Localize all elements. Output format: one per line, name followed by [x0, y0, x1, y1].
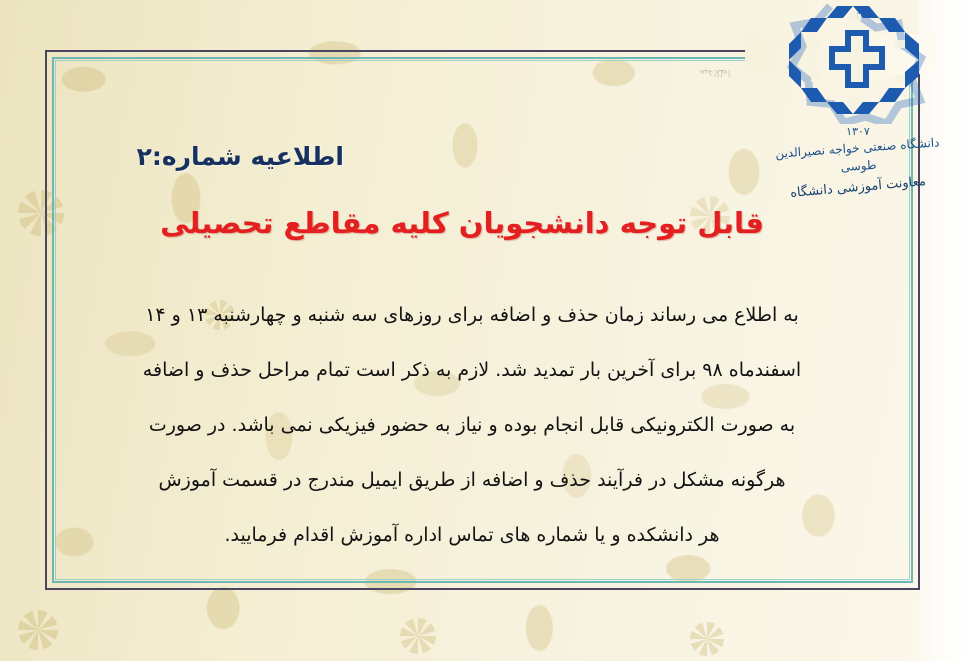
body-line: هر دانشکده و یا شماره های تماس اداره آمو…	[72, 508, 872, 563]
notice-headline: قابل توجه دانشجویان کلیه مقاطع تحصیلی	[0, 206, 964, 240]
body-line: به اطلاع می رساند زمان حذف و اضافه برای …	[72, 288, 872, 343]
knot-emblem-icon	[783, 2, 933, 124]
university-logo: ۱۳۰۷ دانشگاه صنعتی خواجه نصیرالدین طوسی …	[758, 2, 958, 192]
notice-number: اطلاعیه شماره:۲	[137, 142, 344, 171]
watermark-center	[300, 560, 660, 620]
rosette-motif	[400, 618, 436, 654]
body-line: به صورت الکترونیکی قابل انجام بوده و نیا…	[72, 398, 872, 453]
notice-body: به اطلاع می رساند زمان حذف و اضافه برای …	[72, 288, 872, 563]
body-line: هرگونه مشکل در فرآیند حذف و اضافه از طری…	[72, 453, 872, 508]
watermark-top: اطلاعیه	[660, 62, 770, 78]
rosette-motif	[690, 622, 724, 656]
body-line: اسفندماه ۹۸ برای آخرین بار تمدید شد. لاز…	[72, 343, 872, 398]
rosette-motif	[18, 610, 58, 650]
announcement-poster: اطلاعیه	[0, 0, 964, 661]
